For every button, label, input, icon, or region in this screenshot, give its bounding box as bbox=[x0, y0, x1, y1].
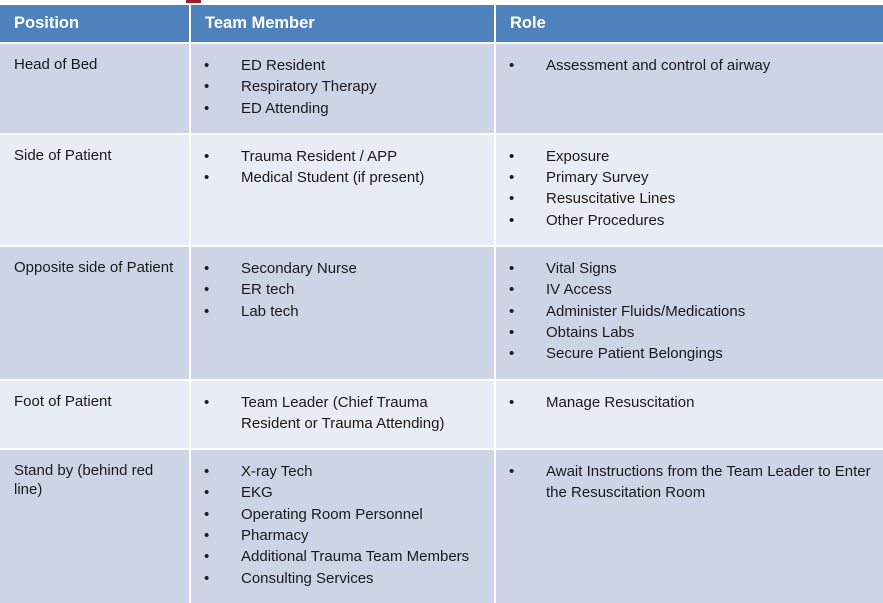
bullet-list: •Manage Resuscitation bbox=[496, 381, 883, 427]
bullet-point-icon: • bbox=[509, 322, 514, 343]
list-item-label: Secondary Nurse bbox=[241, 260, 357, 277]
list-item: •Primary Survey bbox=[504, 167, 875, 188]
bullet-point-icon: • bbox=[509, 258, 514, 279]
bullet-point-icon: • bbox=[204, 525, 209, 546]
list-item: •Manage Resuscitation bbox=[504, 392, 875, 413]
bullet-point-icon: • bbox=[509, 392, 514, 413]
position-label: Head of Bed bbox=[0, 44, 189, 88]
list-item: •Operating Room Personnel bbox=[199, 504, 486, 525]
bullet-list: •ED Resident•Respiratory Therapy•ED Atte… bbox=[191, 44, 494, 133]
list-item-label: Trauma Resident / APP bbox=[241, 148, 397, 165]
list-item-label: Administer Fluids/Medications bbox=[546, 303, 745, 320]
list-item: •IV Access bbox=[504, 279, 875, 300]
column-header-team-member: Team Member bbox=[191, 5, 496, 42]
table-header: Position Team Member Role bbox=[0, 5, 883, 42]
list-item-label: Assessment and control of airway bbox=[546, 57, 770, 74]
cell-position: Foot of Patient bbox=[0, 379, 191, 449]
cell-team-member: •ED Resident•Respiratory Therapy•ED Atte… bbox=[191, 42, 496, 133]
list-item-label: Other Procedures bbox=[546, 212, 664, 229]
list-item: •Trauma Resident / APP bbox=[199, 146, 486, 167]
bullet-point-icon: • bbox=[204, 392, 209, 413]
list-item-label: Obtains Labs bbox=[546, 324, 634, 341]
bullet-point-icon: • bbox=[509, 210, 514, 231]
list-item-label: ER tech bbox=[241, 281, 294, 298]
list-item: •Obtains Labs bbox=[504, 322, 875, 343]
list-item-label: Pharmacy bbox=[241, 527, 309, 544]
list-item-label: Exposure bbox=[546, 148, 609, 165]
list-item-label: Respiratory Therapy bbox=[241, 78, 377, 95]
bullet-list: •Assessment and control of airway bbox=[496, 44, 883, 90]
table-body: Head of Bed•ED Resident•Respiratory Ther… bbox=[0, 42, 883, 603]
list-item: •Team Leader (Chief Trauma Resident or T… bbox=[199, 392, 486, 435]
table-row: Stand by (behind red line)•X-ray Tech•EK… bbox=[0, 448, 883, 603]
bullet-point-icon: • bbox=[509, 301, 514, 322]
list-item: •Pharmacy bbox=[199, 525, 486, 546]
list-item-label: Resuscitative Lines bbox=[546, 190, 675, 207]
position-label: Side of Patient bbox=[0, 135, 189, 179]
cell-position: Side of Patient bbox=[0, 133, 191, 245]
list-item-label: Consulting Services bbox=[241, 570, 374, 587]
list-item-label: EKG bbox=[241, 484, 273, 501]
list-item: •EKG bbox=[199, 482, 486, 503]
bullet-point-icon: • bbox=[204, 504, 209, 525]
bullet-point-icon: • bbox=[204, 98, 209, 119]
trauma-team-roles-table: Position Team Member Role Head of Bed•ED… bbox=[0, 5, 883, 603]
cell-role: •Assessment and control of airway bbox=[496, 42, 883, 133]
cell-team-member: •Secondary Nurse•ER tech•Lab tech bbox=[191, 245, 496, 378]
list-item: •ED Resident bbox=[199, 55, 486, 76]
column-header-role: Role bbox=[496, 5, 883, 42]
list-item-label: Secure Patient Belongings bbox=[546, 345, 723, 362]
list-item: •X-ray Tech bbox=[199, 461, 486, 482]
list-item-label: ED Resident bbox=[241, 57, 325, 74]
cell-role: •Await Instructions from the Team Leader… bbox=[496, 448, 883, 603]
slide-canvas: Position Team Member Role Head of Bed•ED… bbox=[0, 0, 883, 557]
list-item-label: Await Instructions from the Team Leader … bbox=[546, 463, 871, 501]
list-item-label: X-ray Tech bbox=[241, 463, 312, 480]
bullet-point-icon: • bbox=[509, 279, 514, 300]
bullet-list: •Trauma Resident / APP•Medical Student (… bbox=[191, 135, 494, 203]
list-item: •Assessment and control of airway bbox=[504, 55, 875, 76]
bullet-list: •X-ray Tech•EKG•Operating Room Personnel… bbox=[191, 450, 494, 603]
bullet-point-icon: • bbox=[204, 461, 209, 482]
bullet-point-icon: • bbox=[509, 55, 514, 76]
list-item-label: Vital Signs bbox=[546, 260, 617, 277]
column-header-position: Position bbox=[0, 5, 191, 42]
bullet-point-icon: • bbox=[204, 76, 209, 97]
bullet-list: •Secondary Nurse•ER tech•Lab tech bbox=[191, 247, 494, 336]
list-item: •Administer Fluids/Medications bbox=[504, 301, 875, 322]
cell-position: Stand by (behind red line) bbox=[0, 448, 191, 603]
bullet-point-icon: • bbox=[204, 167, 209, 188]
cell-role: •Exposure•Primary Survey•Resuscitative L… bbox=[496, 133, 883, 245]
cell-team-member: •Trauma Resident / APP•Medical Student (… bbox=[191, 133, 496, 245]
bullet-list: •Exposure•Primary Survey•Resuscitative L… bbox=[496, 135, 883, 245]
cell-team-member: •Team Leader (Chief Trauma Resident or T… bbox=[191, 379, 496, 449]
list-item: •ER tech bbox=[199, 279, 486, 300]
list-item-label: Lab tech bbox=[241, 303, 299, 320]
cell-position: Opposite side of Patient bbox=[0, 245, 191, 378]
header-row: Position Team Member Role bbox=[0, 5, 883, 42]
bullet-point-icon: • bbox=[204, 568, 209, 589]
list-item: •Lab tech bbox=[199, 301, 486, 322]
list-item: •Await Instructions from the Team Leader… bbox=[504, 461, 875, 504]
list-item: •Exposure bbox=[504, 146, 875, 167]
list-item-label: Manage Resuscitation bbox=[546, 394, 694, 411]
bullet-point-icon: • bbox=[204, 55, 209, 76]
list-item-label: Operating Room Personnel bbox=[241, 506, 423, 523]
bullet-point-icon: • bbox=[204, 258, 209, 279]
bullet-point-icon: • bbox=[204, 301, 209, 322]
table-row: Side of Patient•Trauma Resident / APP•Me… bbox=[0, 133, 883, 245]
cell-role: •Manage Resuscitation bbox=[496, 379, 883, 449]
list-item-label: IV Access bbox=[546, 281, 612, 298]
table-row: Head of Bed•ED Resident•Respiratory Ther… bbox=[0, 42, 883, 133]
list-item-label: ED Attending bbox=[241, 100, 329, 117]
bullet-point-icon: • bbox=[509, 343, 514, 364]
bullet-point-icon: • bbox=[204, 279, 209, 300]
position-label: Opposite side of Patient bbox=[0, 247, 189, 291]
bullet-point-icon: • bbox=[509, 188, 514, 209]
cell-team-member: •X-ray Tech•EKG•Operating Room Personnel… bbox=[191, 448, 496, 603]
cell-position: Head of Bed bbox=[0, 42, 191, 133]
bullet-point-icon: • bbox=[509, 167, 514, 188]
position-label: Stand by (behind red line) bbox=[0, 450, 189, 513]
red-accent-artifact bbox=[186, 0, 201, 3]
table-row: Opposite side of Patient•Secondary Nurse… bbox=[0, 245, 883, 378]
list-item: •ED Attending bbox=[199, 98, 486, 119]
bullet-point-icon: • bbox=[509, 146, 514, 167]
list-item: •Respiratory Therapy bbox=[199, 76, 486, 97]
bullet-list: •Team Leader (Chief Trauma Resident or T… bbox=[191, 381, 494, 449]
list-item: •Secure Patient Belongings bbox=[504, 343, 875, 364]
list-item: •Consulting Services bbox=[199, 568, 486, 589]
list-item-label: Team Leader (Chief Trauma Resident or Tr… bbox=[241, 394, 444, 432]
list-item: •Vital Signs bbox=[504, 258, 875, 279]
table-row: Foot of Patient•Team Leader (Chief Traum… bbox=[0, 379, 883, 449]
list-item-label: Medical Student (if present) bbox=[241, 169, 424, 186]
bullet-point-icon: • bbox=[204, 146, 209, 167]
list-item: •Medical Student (if present) bbox=[199, 167, 486, 188]
position-label: Foot of Patient bbox=[0, 381, 189, 425]
list-item: •Secondary Nurse bbox=[199, 258, 486, 279]
list-item: •Other Procedures bbox=[504, 210, 875, 231]
bullet-list: •Await Instructions from the Team Leader… bbox=[496, 450, 883, 518]
cell-role: •Vital Signs•IV Access•Administer Fluids… bbox=[496, 245, 883, 378]
bullet-point-icon: • bbox=[204, 482, 209, 503]
list-item-label: Primary Survey bbox=[546, 169, 649, 186]
bullet-point-icon: • bbox=[509, 461, 514, 482]
bullet-list: •Vital Signs•IV Access•Administer Fluids… bbox=[496, 247, 883, 378]
list-item: •Resuscitative Lines bbox=[504, 188, 875, 209]
